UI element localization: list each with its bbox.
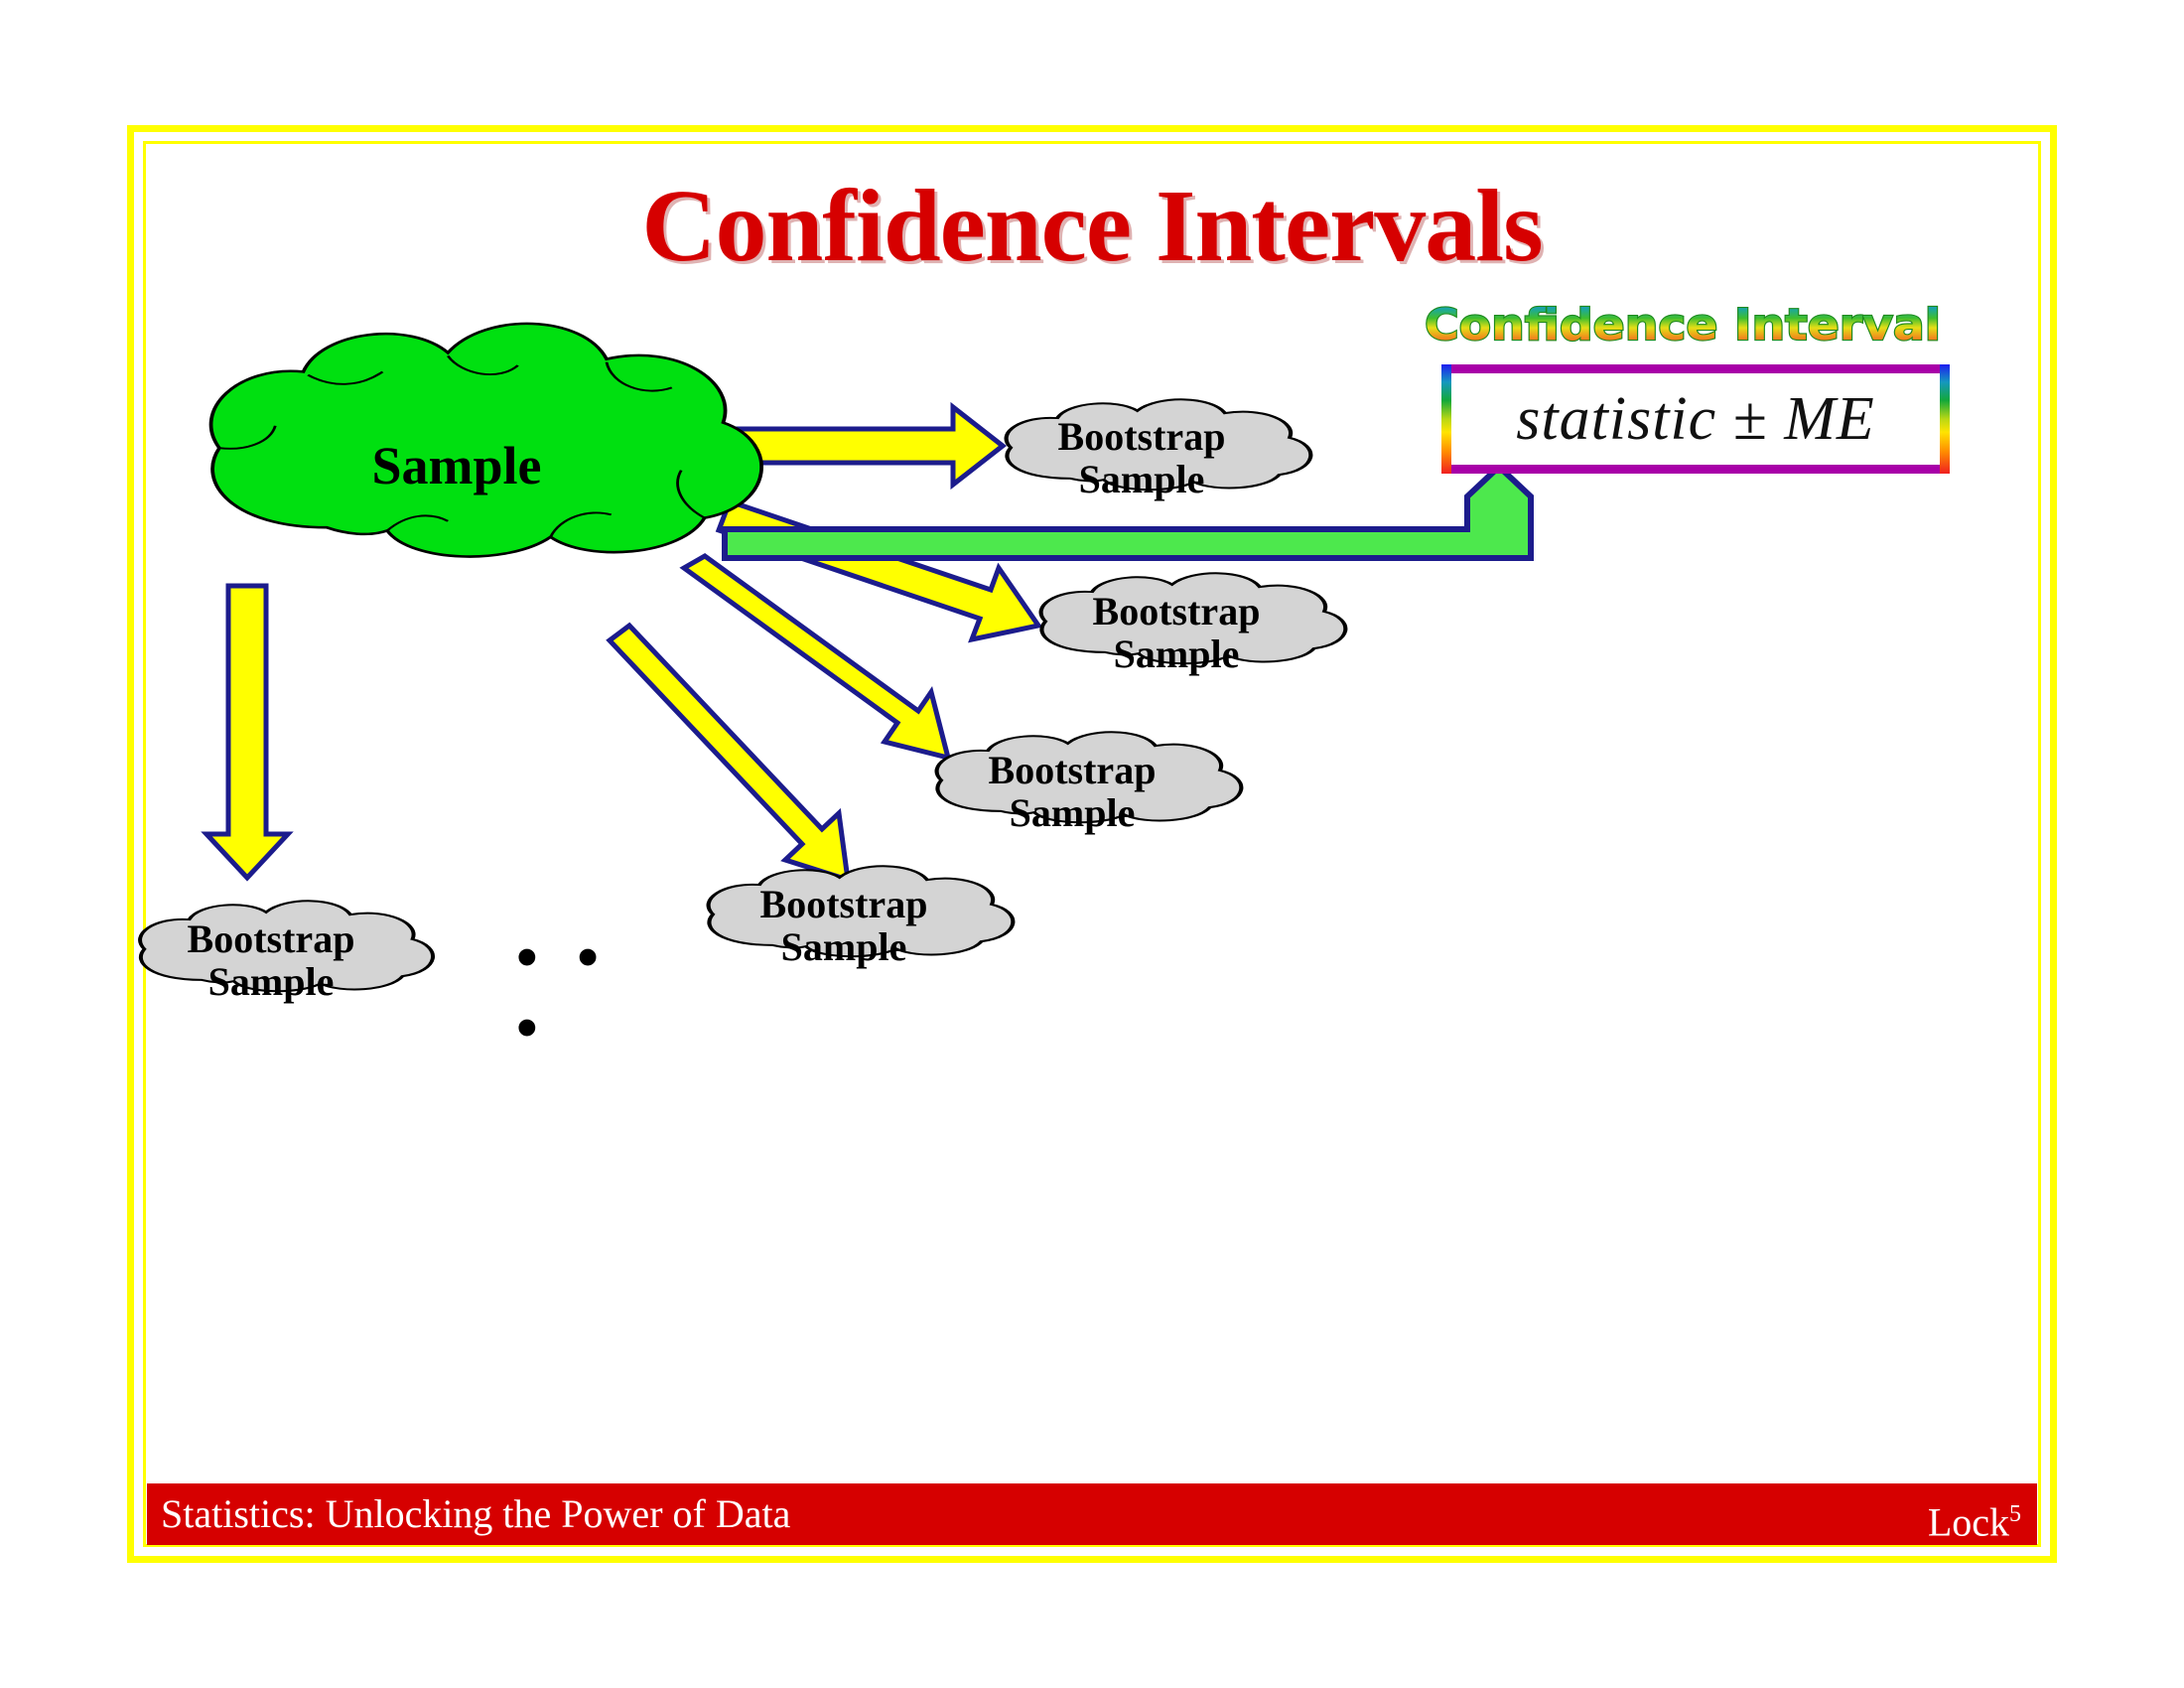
footer-bar: Statistics: Unlocking the Power of Data …: [147, 1483, 2037, 1545]
wordart-label: Confidence Interval: [1425, 300, 1941, 351]
diagram-canvas: [0, 0, 2184, 1688]
sample-cloud: [211, 324, 762, 557]
slide-canvas: Confidence Intervals: [0, 0, 2184, 1688]
footer-author-superscript: 5: [2009, 1501, 2021, 1527]
confidence-interval-formula: statistic ± ME: [1441, 364, 1950, 474]
footer-source-text: Statistics: Unlocking the Power of Data: [161, 1483, 790, 1545]
arrow-to-bootstrap-5: [206, 586, 288, 878]
confidence-interval-heading: Confidence Interval: [1415, 296, 1951, 353]
bootstrap-cloud-4: [709, 866, 1014, 956]
bootstrap-cloud-3: [937, 732, 1242, 822]
footer-author: Lock5: [1928, 1483, 2021, 1545]
bootstrap-cloud-5: [140, 901, 433, 991]
confidence-interval-formula-box: statistic ± ME: [1441, 364, 1950, 474]
footer-author-name: Lock: [1928, 1499, 2009, 1544]
bootstrap-cloud-1: [1007, 399, 1311, 490]
bootstrap-cloud-2: [1041, 573, 1346, 663]
ellipsis-indicator: • • •: [516, 923, 635, 1064]
